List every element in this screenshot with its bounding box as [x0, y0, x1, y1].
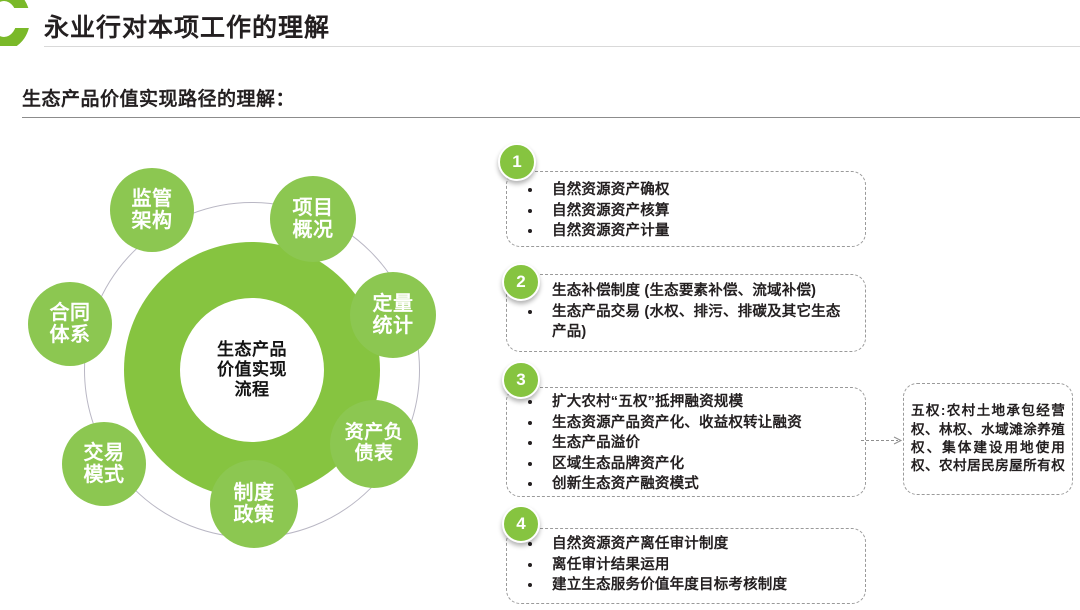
- list-item: 自然资源资产确权: [506, 180, 854, 201]
- step-4-bullet-list: 自然资源资产离任审计制度离任审计结果运用建立生态服务价值年度目标考核制度: [506, 534, 854, 596]
- step-1-badge[interactable]: 1: [498, 143, 536, 181]
- wheel-node-label: 交易 模式: [84, 442, 125, 486]
- list-item: 生态产品交易 (水权、排污、排碳及其它生态产品): [506, 302, 854, 343]
- wheel-node-4[interactable]: 制度 政策: [210, 460, 298, 548]
- arrow-to-side-note-icon: [861, 436, 905, 445]
- step-1-bullet-list: 自然资源资产确权自然资源资产核算自然资源资产计量: [506, 180, 854, 242]
- wheel-node-label: 合同 体系: [50, 302, 91, 346]
- step-3-badge[interactable]: 3: [502, 361, 540, 399]
- header-divider: [44, 46, 1080, 47]
- list-item: 生态产品溢价: [506, 433, 854, 454]
- value-realization-wheel-diagram: 生态产品 价值实现 流程 项目 概况定量 统计资产负 债表制度 政策交易 模式合…: [28, 150, 476, 590]
- list-item: 自然资源资产核算: [506, 201, 854, 222]
- section-divider: [22, 117, 1080, 118]
- wheel-node-6[interactable]: 合同 体系: [28, 282, 112, 366]
- list-item: 扩大农村“五权”抵押融资规模: [506, 392, 854, 413]
- wheel-node-2[interactable]: 定量 统计: [350, 272, 436, 358]
- wheel-node-label: 资产负 债表: [345, 423, 404, 465]
- side-note-box: 五权:农村土地承包经营权、林权、水域滩涂养殖权、集体建设用地使用权、农村居民房屋…: [903, 383, 1073, 495]
- page-title: 永业行对本项工作的理解: [44, 8, 330, 44]
- step-2-badge[interactable]: 2: [502, 263, 540, 301]
- wheel-node-label: 监管 架构: [132, 188, 173, 232]
- wheel-node-label: 定量 统计: [373, 293, 414, 337]
- list-item: 建立生态服务价值年度目标考核制度: [506, 575, 854, 596]
- list-item: 自然资源资产计量: [506, 221, 854, 242]
- section-title: 生态产品价值实现路径的理解：: [22, 84, 295, 111]
- list-item: 生态补偿制度 (生态要素补偿、流域补偿): [506, 281, 854, 302]
- side-note-text: 五权:农村土地承包经营权、林权、水域滩涂养殖权、集体建设用地使用权、农村居民房屋…: [911, 402, 1065, 476]
- list-item: 离任审计结果运用: [506, 555, 854, 576]
- wheel-node-3[interactable]: 资产负 债表: [330, 400, 418, 488]
- list-item: 区域生态品牌资产化: [506, 454, 854, 475]
- step-2-bullet-list: 生态补偿制度 (生态要素补偿、流域补偿)生态产品交易 (水权、排污、排碳及其它生…: [506, 281, 854, 343]
- list-item: 创新生态资产融资模式: [506, 474, 854, 495]
- wheel-node-7[interactable]: 监管 架构: [110, 168, 194, 252]
- list-item: 生态资源产品资产化、收益权转让融资: [506, 413, 854, 434]
- wheel-node-label: 制度 政策: [234, 482, 275, 526]
- step-3-bullet-list: 扩大农村“五权”抵押融资规模生态资源产品资产化、收益权转让融资生态产品溢价区域生…: [506, 392, 854, 495]
- wheel-node-1[interactable]: 项目 概况: [270, 176, 356, 262]
- list-item: 自然资源资产离任审计制度: [506, 534, 854, 555]
- logo-notch: [4, 8, 30, 28]
- wheel-node-label: 项目 概况: [293, 197, 334, 241]
- wheel-node-5[interactable]: 交易 模式: [62, 422, 146, 506]
- step-4-badge[interactable]: 4: [502, 505, 540, 543]
- company-logo: YYX: [0, 0, 30, 46]
- wheel-center-label: 生态产品 价值实现 流程: [180, 298, 324, 442]
